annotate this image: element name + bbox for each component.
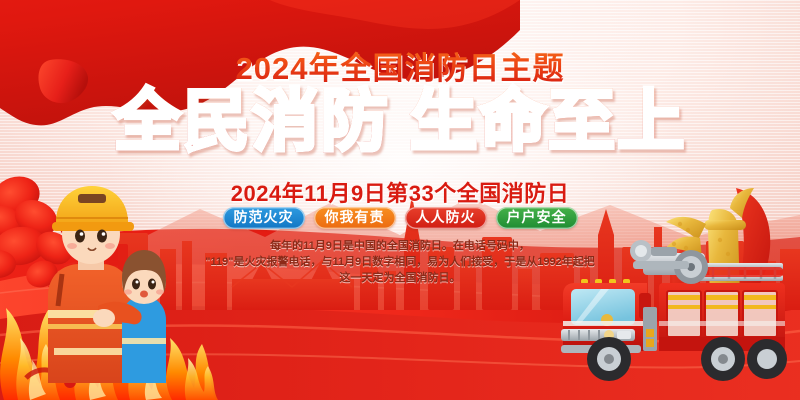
- body-line-2: "119"是火灾报警电话，与11月9日数字相同，易为人们接受，于是从1992年起…: [0, 254, 800, 270]
- slogan-badge-list: 防范火灾 你我有责 人人防火 户户安全: [0, 207, 800, 229]
- page-title: 全民消防 生命至上: [0, 88, 800, 155]
- status-badge-everyone-fireproof: 人人防火: [405, 207, 487, 229]
- fire-safety-poster: 2024年全国消防日主题 全民消防 生命至上 2024年11月9日第33个全国消…: [0, 0, 800, 400]
- status-badge-household-safety: 户户安全: [496, 207, 578, 229]
- status-badge-shared-duty: 你我有责: [314, 207, 396, 229]
- body-line-1: 每年的11月9日是中国的全国消防日。在电话号码中，: [0, 238, 800, 254]
- poster-text-content: 2024年全国消防日主题 全民消防 生命至上 2024年11月9日第33个全国消…: [0, 0, 800, 400]
- top-title: 2024年全国消防日主题: [0, 43, 800, 88]
- status-badge-prevent-fire: 防范火灾: [223, 207, 305, 229]
- body-line-3: 这一天定为全国消防日。: [0, 270, 800, 286]
- subtitle: 2024年11月9日第33个全国消防日: [0, 176, 800, 208]
- body-paragraph: 每年的11月9日是中国的全国消防日。在电话号码中， "119"是火灾报警电话，与…: [0, 238, 800, 286]
